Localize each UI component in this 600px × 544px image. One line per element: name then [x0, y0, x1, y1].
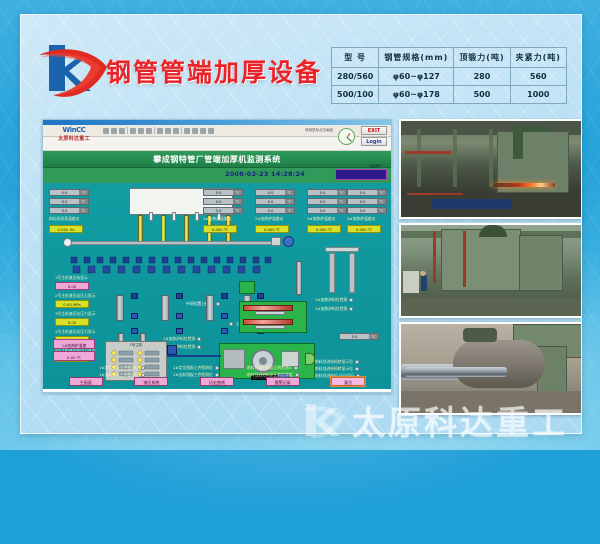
gauge-unit: ℃	[285, 190, 294, 195]
hydraulic-valve[interactable]	[131, 313, 138, 319]
upset-head	[453, 340, 545, 388]
actuator	[149, 212, 153, 221]
gauge-value: 0.0	[256, 208, 285, 213]
status-lamp	[216, 302, 220, 306]
center-roller-label-row: 中间位置上料辊	[186, 301, 220, 307]
hydraulic-valve[interactable]	[257, 293, 264, 299]
furnace-temperature-group: 0.0 ℃ 0.0 ℃ 0.0 ℃ 4#加热炉温度仪 0.000 ℃	[347, 189, 387, 233]
status-lamp	[349, 307, 353, 311]
gauge-unit: ℃	[233, 208, 242, 213]
status-lamp	[215, 366, 219, 370]
cell-clamp-force: 560	[510, 68, 566, 86]
gauge-value: 0.0	[308, 190, 337, 195]
wincc-logo-text: WinCC	[46, 126, 102, 135]
hydraulic-valve[interactable]	[176, 293, 183, 299]
pressure-gauge: 0.0 ℃	[339, 333, 379, 340]
copy-icon[interactable]	[138, 128, 144, 134]
motor-pressure-value: 0.00 MPa	[55, 300, 89, 308]
cut-icon[interactable]	[130, 128, 136, 134]
toolbar-hint: 请用鼠标点击画面	[305, 128, 333, 133]
worker-head	[420, 271, 426, 276]
hmi-brand: WinCC 太原科达重工	[46, 126, 102, 146]
gauge-unit: ℃	[285, 208, 294, 213]
table-row: 500/100 φ60~φ178 500 1000	[332, 86, 567, 104]
motor-pressure-label: 3号主机液压站压力显示	[55, 311, 95, 317]
gauge-value: 0.0	[348, 208, 377, 213]
motor-pressure-label: 1号主机液压站显示	[55, 275, 95, 281]
lamp-label: 前料挡进给料反正转检测G	[247, 365, 292, 371]
company-logo-text: 太原科达重工	[46, 135, 102, 144]
temperature-gauge: 0.0 ℃	[255, 189, 295, 196]
temperature-gauge: 0.0 ℃	[255, 198, 295, 205]
group-caption: 2#加热炉温度仪	[255, 216, 295, 222]
temperature-gauge: 0.0 ℃	[307, 198, 347, 205]
nav-button-hydraulic[interactable]: 液压系统	[134, 377, 168, 386]
feed-table-module	[239, 281, 255, 294]
temperature-gauge: 0.0 ℃	[347, 198, 387, 205]
text-icon[interactable]	[173, 128, 179, 134]
machine-frame	[519, 235, 563, 291]
hot-pipe	[493, 183, 555, 187]
roller-conveyor-lower	[69, 259, 274, 268]
group-caption: 3#加热炉温度仪	[307, 216, 347, 222]
pump-icon	[63, 238, 72, 247]
photo-pipe-closeup	[399, 322, 582, 415]
hydraulic-valve[interactable]	[176, 328, 183, 334]
temperature-gauge: 0.0 ℃	[307, 189, 347, 196]
toolbar-separator	[181, 127, 182, 134]
blue-equipment	[431, 199, 511, 209]
actuator	[195, 212, 199, 221]
temperature-readout: 0.000 ℃	[307, 225, 341, 233]
gauge-value: 0.0	[348, 190, 377, 195]
temperature-readout: 0.000 ℃	[203, 225, 237, 233]
hmi-button-bar[interactable]: 主画面 液压系统 历史曲线 报警记录 复位	[43, 377, 391, 386]
right-lamp-column: 1#加热炉料位检测 2#加热炉料位检测	[315, 297, 353, 312]
clamp-rod	[255, 311, 285, 315]
temperature-gauge: 0.0 ℃	[49, 207, 89, 214]
group-caption: 1#加热炉温度仪	[203, 216, 243, 222]
temperature-gauge: 0.0 ℃	[347, 189, 387, 196]
nav-button-alarm[interactable]: 报警记录	[266, 377, 300, 386]
temperature-readout: 0.000 ℃	[255, 225, 289, 233]
status-lamp	[197, 345, 201, 349]
nav-button-reset[interactable]: 复位	[331, 377, 365, 386]
gauge-unit: ℃	[233, 199, 242, 204]
column	[453, 129, 457, 187]
connection-line	[167, 345, 177, 355]
hydraulic-valve[interactable]	[176, 313, 183, 319]
gauge-unit: ℃	[79, 199, 88, 204]
hmi-datetime: 2008-02-23 14:28:24	[225, 170, 305, 178]
actuator	[172, 212, 176, 221]
machine-housing	[223, 349, 245, 369]
hmi-status-row: 2008-02-23 14:28:24 当前用户	[43, 168, 391, 183]
temperature-gauge: 0.0 ℃	[203, 198, 243, 205]
connection-line	[167, 355, 221, 357]
cell-upset-force: 500	[454, 86, 510, 104]
gauge-value: 0.0	[308, 199, 337, 204]
gauge-value: 0.0	[256, 190, 285, 195]
hmi-user-field[interactable]	[335, 169, 387, 180]
heater-panel: 1#加热炉温度 0.00 ℃	[53, 339, 95, 361]
report-icon[interactable]	[200, 128, 206, 134]
gauge-unit: ℃	[79, 208, 88, 213]
worker	[421, 275, 427, 291]
status-lamp	[229, 322, 233, 326]
furnace-pipe	[161, 215, 166, 243]
temperature-gauge: 0.0 ℃	[203, 207, 243, 214]
furnace-pipe	[184, 215, 189, 243]
table-row: 280/560 φ60~φ127 280 560	[332, 68, 567, 86]
cell-upset-force: 280	[454, 68, 510, 86]
help-icon[interactable]	[208, 128, 214, 134]
gauge-unit: ℃	[377, 190, 386, 195]
clock-icon	[338, 128, 355, 145]
zoom-icon[interactable]	[165, 128, 171, 134]
right-crossbeam	[325, 247, 359, 252]
group-caption: 4#加热炉温度仪	[347, 216, 387, 222]
status-lamp	[355, 360, 359, 364]
machine-flange-inner	[259, 357, 267, 365]
motor-pressure-label: 2号主机液压站压力显示	[55, 293, 95, 299]
hydraulic-cylinder	[296, 261, 302, 295]
photo-machine-hall	[399, 223, 582, 318]
col-clamp-force: 夹紧力(吨)	[510, 48, 566, 68]
hydraulic-valve[interactable]	[221, 313, 228, 319]
floor	[401, 391, 582, 413]
temperature-gauge: 0.0 ℃	[49, 189, 89, 196]
hmi-screenshot: 请用鼠标点击画面 WinCC 太原科达重工 EXIT Login 攀成钢特管厂管…	[42, 119, 392, 393]
nav-button-trend[interactable]: 历史曲线	[200, 377, 234, 386]
status-lamp	[197, 337, 201, 341]
exhaust-duct	[521, 127, 549, 132]
trend-icon[interactable]	[192, 128, 198, 134]
hydraulic-valve[interactable]	[131, 328, 138, 334]
temperature-readout: 0.000 ℃	[347, 225, 381, 233]
upsetting-machine-body	[441, 229, 521, 291]
lamp-label: 2#定位挡板工件检测位	[173, 365, 213, 371]
column	[417, 129, 421, 187]
gauge-value: 0.0	[50, 208, 79, 213]
motor-pressure-value: 0.00	[55, 318, 89, 326]
bottom-lamp-group-4: 前料挡进给料转显示位 前料挡进给料转显示位 前料挡进给料 自动运行	[315, 359, 360, 379]
col-pipe-spec: 钢管规格(mm)	[379, 48, 454, 68]
pipe-body	[405, 367, 507, 377]
temperature-gauge: 0.0 ℃	[255, 207, 295, 214]
hydraulic-cylinder	[116, 295, 124, 321]
heater-panel-value: 0.00 ℃	[53, 351, 95, 361]
status-lamp	[294, 366, 298, 370]
gauge-value: 0.0	[204, 208, 233, 213]
left-temperature-group: 0.0 ℃ 0.0 ℃ 0.0 ℃ 斜轧机机身温度仪 0.000 Hz	[49, 189, 89, 233]
gauge-value: 0.0	[50, 190, 79, 195]
cell-pipe-spec: φ60~φ127	[379, 68, 454, 86]
gauge-value: 0.0	[308, 208, 337, 213]
lamp-label: 2#加热炉料位检测	[315, 306, 347, 312]
red-pipe	[463, 231, 466, 287]
toolbar-separator	[127, 127, 128, 134]
chuck	[463, 328, 497, 342]
motor-icon	[271, 237, 281, 246]
status-lamp	[141, 366, 145, 370]
open-icon[interactable]	[111, 128, 117, 134]
cell-model: 500/100	[332, 86, 379, 104]
photo-production-line	[399, 119, 582, 219]
lamp-label: 前料挡进给料转显示位	[315, 359, 353, 365]
gauge-value: 0.0	[50, 199, 79, 204]
print-icon[interactable]	[157, 128, 163, 134]
gauge-unit: ℃	[369, 334, 378, 339]
hydraulic-valve[interactable]	[221, 293, 228, 299]
kd-logo	[35, 37, 113, 99]
hydraulic-cylinder	[161, 295, 169, 321]
content-card: 钢管管端加厚设备 型 号 钢管规格(mm) 顶锻力(吨) 夹紧力(吨) 280/…	[20, 14, 582, 434]
gauge-unit: ℃	[337, 199, 346, 204]
new-icon[interactable]	[103, 128, 109, 134]
main-header-pipe	[71, 241, 281, 245]
gauge-unit: ℃	[337, 190, 346, 195]
nav-button-main[interactable]: 主画面	[69, 377, 103, 386]
cell-model: 280/560	[332, 68, 379, 86]
column	[489, 129, 493, 187]
paste-icon[interactable]	[146, 128, 152, 134]
gauge-unit: ℃	[337, 208, 346, 213]
gauge-value: 0.0	[348, 199, 377, 204]
red-pipe	[405, 151, 451, 154]
temperature-gauge: 0.0 ℃	[49, 198, 89, 205]
gauge-unit: ℃	[377, 199, 386, 204]
right-stand	[329, 253, 335, 293]
col-model: 型 号	[332, 48, 379, 68]
alarm-icon[interactable]	[184, 128, 190, 134]
lamp-label: 前料挡进给料转显示位	[315, 366, 353, 372]
hydraulic-cylinder	[206, 295, 214, 321]
machine-nose	[305, 353, 315, 365]
gauge-value: 0.0	[204, 190, 233, 195]
cell-clamp-force: 1000	[510, 86, 566, 104]
hydraulic-valve[interactable]	[131, 293, 138, 299]
motor-pressure-value: 0.00	[55, 282, 89, 290]
furnace-temperature-group: 0.0 ℃ 0.0 ℃ 0.0 ℃ 3#加热炉温度仪 0.000 ℃	[307, 189, 347, 233]
right-stand	[349, 253, 355, 293]
status-lamp	[349, 298, 353, 302]
exit-button[interactable]: EXIT	[361, 126, 387, 135]
gauge-unit: ℃	[79, 190, 88, 195]
red-pipe	[433, 231, 436, 283]
col-upset-force: 顶锻力(吨)	[454, 48, 510, 68]
hmi-screen-title: 攀成钢特管厂管端加厚机监测系统	[43, 151, 391, 168]
motor-pressure-label: 4号主机液压站压力显示	[55, 329, 95, 335]
roller-conveyor-upper	[69, 249, 274, 257]
clamp-rod	[255, 325, 285, 329]
save-icon[interactable]	[119, 128, 125, 134]
gauge-value: 0.0	[340, 334, 369, 339]
gauge-value: 0.0	[204, 199, 233, 204]
furnace-pipe	[138, 215, 143, 243]
status-lamp	[355, 367, 359, 371]
gauge-unit: ℃	[285, 199, 294, 204]
temperature-gauge: 0.0 ℃	[307, 207, 347, 214]
furnace-temperature-group: 0.0 ℃ 0.0 ℃ 0.0 ℃ 1#加热炉温度仪 0.000 ℃	[203, 189, 243, 233]
gauge-value: 0.0	[256, 199, 285, 204]
gauge-unit: ℃	[233, 190, 242, 195]
table-header-row: 型 号 钢管规格(mm) 顶锻力(吨) 夹紧力(吨)	[332, 48, 567, 68]
temperature-gauge: 0.0 ℃	[203, 189, 243, 196]
spec-table: 型 号 钢管规格(mm) 顶锻力(吨) 夹紧力(吨) 280/560 φ60~φ…	[331, 47, 567, 104]
toolbar-separator	[154, 127, 155, 134]
furnace-temperature-group: 0.0 ℃ 0.0 ℃ 0.0 ℃ 2#加热炉温度仪 0.000 ℃	[255, 189, 295, 233]
hmi-mimic-diagram[interactable]: 0.0 ℃ 0.0 ℃ 0.0 ℃ 斜轧机机身温度仪 0.000 Hz 0.0	[43, 183, 391, 389]
gauge-unit: ℃	[377, 208, 386, 213]
group-caption: 斜轧机机身温度仪	[49, 216, 89, 222]
floor	[401, 298, 582, 316]
pump-icon	[283, 236, 294, 247]
page-title: 钢管管端加厚设备	[106, 53, 322, 89]
cell-pipe-spec: φ60~φ178	[379, 86, 454, 104]
cabinet	[403, 271, 419, 293]
temperature-gauge: 0.0 ℃	[347, 207, 387, 214]
hydraulic-valve[interactable]	[221, 328, 228, 334]
frequency-readout: 0.000 Hz	[49, 225, 83, 233]
lamp-label: 1#加热炉料位检测	[315, 297, 347, 303]
right-readout: 0.0 ℃	[339, 333, 379, 340]
login-button[interactable]: Login	[361, 137, 387, 146]
hmi-window-buttons: EXIT Login	[361, 126, 389, 148]
lamp-label: 1#定位挡板工件检测位	[99, 365, 139, 371]
lamp-label: 1#加热炉料位检测	[163, 336, 195, 342]
heater-panel-title: 1#加热炉温度	[53, 339, 95, 349]
